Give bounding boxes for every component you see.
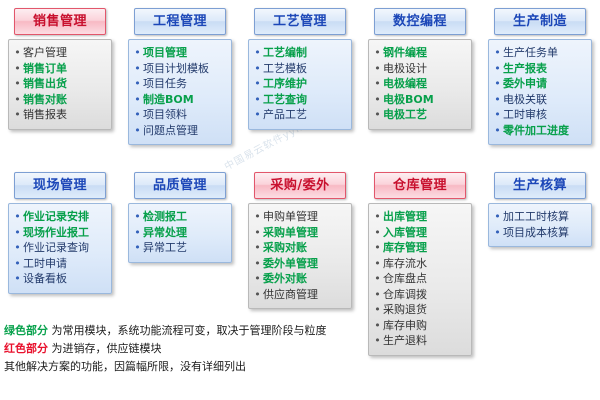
module-item-label: 项目任务	[143, 76, 187, 92]
module-item-label: 供应商管理	[263, 287, 318, 303]
bullet-icon: •	[252, 45, 263, 61]
legend-red-description: 为进销存，供应链模块	[52, 342, 162, 355]
module-item[interactable]: •仓库盘点	[372, 271, 468, 287]
column-col-5-bottom: 生产核算•加工工时核算•项目成本核算	[480, 172, 600, 356]
module-item-label: 客户管理	[23, 45, 67, 61]
module-item[interactable]: •电极编程	[372, 76, 468, 92]
bullet-icon: •	[372, 271, 383, 287]
column-col-5-top: 生产制造•生产任务单•生产报表•委外申请•电极关联•工时审核•零件加工进度	[480, 8, 600, 145]
module-item-list: •客户管理•销售订单•销售出货•销售对账•销售报表	[12, 45, 108, 123]
module-header-生产核算[interactable]: 生产核算	[494, 172, 586, 199]
module-item-list: •生产任务单•生产报表•委外申请•电极关联•工时审核•零件加工进度	[492, 45, 588, 138]
module-item-label: 工时审核	[503, 107, 547, 123]
module-item[interactable]: •销售报表	[12, 107, 108, 123]
module-card-品质管理: 品质管理•检测报工•异常处理•异常工艺	[128, 172, 232, 263]
module-item-list: •钢件编程•电极设计•电极编程•电极BOM•电极工艺	[372, 45, 468, 123]
module-item[interactable]: •库存流水	[372, 256, 468, 272]
module-header-生产制造[interactable]: 生产制造	[494, 8, 586, 35]
module-item-label: 采购单管理	[263, 225, 318, 241]
module-item[interactable]: •销售出货	[12, 76, 108, 92]
module-item[interactable]: •异常处理	[132, 225, 228, 241]
module-item[interactable]: •采购对账	[252, 240, 348, 256]
bullet-icon: •	[12, 61, 23, 77]
bullet-icon: •	[12, 240, 23, 256]
module-header-工艺管理[interactable]: 工艺管理	[254, 8, 346, 35]
module-item-label: 仓库盘点	[383, 271, 427, 287]
module-header-现场管理[interactable]: 现场管理	[14, 172, 106, 199]
bullet-icon: •	[492, 123, 503, 139]
legend: 绿色部分 为常用模块，系统功能流程可变，取决于管理阶段与粒度 红色部分 为进销存…	[4, 322, 404, 376]
bullet-icon: •	[132, 225, 143, 241]
module-item-label: 异常工艺	[143, 240, 187, 256]
module-item[interactable]: •电极BOM	[372, 92, 468, 108]
module-item[interactable]: •工时审核	[492, 107, 588, 123]
module-body-现场管理: •作业记录安排•现场作业报工•作业记录查询•工时申请•设备看板	[8, 203, 112, 294]
bullet-icon: •	[372, 256, 383, 272]
module-item-label: 电极设计	[383, 61, 427, 77]
bullet-icon: •	[372, 225, 383, 241]
module-item[interactable]: •作业记录安排	[12, 209, 108, 225]
module-item-list: •加工工时核算•项目成本核算	[492, 209, 588, 240]
bullet-icon: •	[252, 256, 263, 272]
module-item[interactable]: •委外对账	[252, 271, 348, 287]
module-item-label: 电极工艺	[383, 107, 427, 123]
module-item-list: •工艺编制•工艺模板•工序维护•工艺查询•产品工艺	[252, 45, 348, 123]
module-item[interactable]: •作业记录查询	[12, 240, 108, 256]
legend-green-description: 为常用模块，系统功能流程可变，取决于管理阶段与粒度	[52, 324, 327, 337]
bullet-icon: •	[492, 76, 503, 92]
module-body-采购/委外: •申购单管理•采购单管理•采购对账•委外单管理•委外对账•供应商管理	[248, 203, 352, 309]
bullet-icon: •	[252, 107, 263, 123]
module-item-label: 零件加工进度	[503, 123, 569, 139]
module-item[interactable]: •采购单管理	[252, 225, 348, 241]
module-body-工程管理: •项目管理•项目计划模板•项目任务•制造BOM•项目领料•问题点管理	[128, 39, 232, 145]
bullet-icon: •	[372, 76, 383, 92]
module-card-生产制造: 生产制造•生产任务单•生产报表•委外申请•电极关联•工时审核•零件加工进度	[488, 8, 592, 145]
bullet-icon: •	[252, 225, 263, 241]
bullet-icon: •	[372, 209, 383, 225]
module-card-生产核算: 生产核算•加工工时核算•项目成本核算	[488, 172, 592, 247]
module-item[interactable]: •现场作业报工	[12, 225, 108, 241]
module-item-label: 制造BOM	[143, 92, 194, 108]
module-row-top: 销售管理•客户管理•销售订单•销售出货•销售对账•销售报表工程管理•项目管理•项…	[0, 8, 600, 145]
module-item-label: 检测报工	[143, 209, 187, 225]
bullet-icon: •	[372, 107, 383, 123]
module-item[interactable]: •制造BOM	[132, 92, 228, 108]
module-item-label: 异常处理	[143, 225, 187, 241]
bullet-icon: •	[132, 107, 143, 123]
module-item-list: •作业记录安排•现场作业报工•作业记录查询•工时申请•设备看板	[12, 209, 108, 287]
module-item-label: 出库管理	[383, 209, 427, 225]
module-item-label: 工艺编制	[263, 45, 307, 61]
module-item[interactable]: •工时申请	[12, 256, 108, 272]
module-body-数控编程: •钢件编程•电极设计•电极编程•电极BOM•电极工艺	[368, 39, 472, 130]
module-item-label: 生产任务单	[503, 45, 558, 61]
bullet-icon: •	[12, 76, 23, 92]
bullet-icon: •	[12, 45, 23, 61]
bullet-icon: •	[372, 92, 383, 108]
bullet-icon: •	[372, 45, 383, 61]
legend-green-swatch-label: 绿色部分	[4, 324, 48, 337]
bullet-icon: •	[12, 225, 23, 241]
module-item-label: 销售报表	[23, 107, 67, 123]
module-item[interactable]: •项目任务	[132, 76, 228, 92]
module-header-品质管理[interactable]: 品质管理	[134, 172, 226, 199]
bullet-icon: •	[252, 76, 263, 92]
module-body-生产制造: •生产任务单•生产报表•委外申请•电极关联•工时审核•零件加工进度	[488, 39, 592, 145]
bullet-icon: •	[132, 61, 143, 77]
module-item-list: •检测报工•异常处理•异常工艺	[132, 209, 228, 256]
module-item[interactable]: •项目计划模板	[132, 61, 228, 77]
module-item[interactable]: •问题点管理	[132, 123, 228, 139]
module-item[interactable]: •项目领料	[132, 107, 228, 123]
bullet-icon: •	[132, 92, 143, 108]
module-header-数控编程[interactable]: 数控编程	[374, 8, 466, 35]
bullet-icon: •	[252, 287, 263, 303]
bullet-icon: •	[252, 271, 263, 287]
module-body-销售管理: •客户管理•销售订单•销售出货•销售对账•销售报表	[8, 39, 112, 130]
module-item-label: 问题点管理	[143, 123, 198, 139]
module-item-label: 电极关联	[503, 92, 547, 108]
module-body-品质管理: •检测报工•异常处理•异常工艺	[128, 203, 232, 263]
module-item-label: 项目领料	[143, 107, 187, 123]
module-item[interactable]: •工艺模板	[252, 61, 348, 77]
module-item-label: 生产报表	[503, 61, 547, 77]
module-header-采购/委外[interactable]: 采购/委外	[254, 172, 346, 199]
module-body-生产核算: •加工工时核算•项目成本核算	[488, 203, 592, 247]
module-item-label: 电极编程	[383, 76, 427, 92]
module-item-label: 工序维护	[263, 76, 307, 92]
module-item-label: 销售对账	[23, 92, 67, 108]
module-item[interactable]: •销售订单	[12, 61, 108, 77]
module-item-label: 现场作业报工	[23, 225, 89, 241]
module-item[interactable]: •入库管理	[372, 225, 468, 241]
module-body-工艺管理: •工艺编制•工艺模板•工序维护•工艺查询•产品工艺	[248, 39, 352, 130]
bullet-icon: •	[132, 45, 143, 61]
module-item[interactable]: •项目成本核算	[492, 225, 588, 241]
module-item[interactable]: •电极工艺	[372, 107, 468, 123]
module-item[interactable]: •零件加工进度	[492, 123, 588, 139]
legend-red-swatch-label: 红色部分	[4, 342, 48, 355]
bullet-icon: •	[492, 107, 503, 123]
module-item[interactable]: •检测报工	[132, 209, 228, 225]
module-item[interactable]: •委外单管理	[252, 256, 348, 272]
module-item[interactable]: •仓库调拨	[372, 287, 468, 303]
bullet-icon: •	[12, 256, 23, 272]
module-item[interactable]: •生产任务单	[492, 45, 588, 61]
bullet-icon: •	[492, 225, 503, 241]
bullet-icon: •	[492, 209, 503, 225]
module-item[interactable]: •钢件编程	[372, 45, 468, 61]
module-item-label: 钢件编程	[383, 45, 427, 61]
module-map-diagram: 中国易云软件yymy.com 销售管理•客户管理•销售订单•销售出货•销售对账•…	[0, 0, 600, 400]
module-item[interactable]: •项目管理	[132, 45, 228, 61]
module-item[interactable]: •加工工时核算	[492, 209, 588, 225]
module-header-销售管理[interactable]: 销售管理	[14, 8, 106, 35]
module-card-工艺管理: 工艺管理•工艺编制•工艺模板•工序维护•工艺查询•产品工艺	[248, 8, 352, 130]
module-card-采购/委外: 采购/委外•申购单管理•采购单管理•采购对账•委外单管理•委外对账•供应商管理	[248, 172, 352, 309]
module-item[interactable]: •工序维护	[252, 76, 348, 92]
module-item-label: 委外对账	[263, 271, 307, 287]
module-item-list: •项目管理•项目计划模板•项目任务•制造BOM•项目领料•问题点管理	[132, 45, 228, 138]
module-item[interactable]: •电极关联	[492, 92, 588, 108]
bullet-icon: •	[132, 240, 143, 256]
module-card-工程管理: 工程管理•项目管理•项目计划模板•项目任务•制造BOM•项目领料•问题点管理	[128, 8, 232, 145]
module-item-label: 电极BOM	[383, 92, 434, 108]
module-card-销售管理: 销售管理•客户管理•销售订单•销售出货•销售对账•销售报表	[8, 8, 112, 130]
bullet-icon: •	[132, 123, 143, 139]
bullet-icon: •	[252, 92, 263, 108]
module-item-label: 仓库调拨	[383, 287, 427, 303]
column-col-1-top: 销售管理•客户管理•销售订单•销售出货•销售对账•销售报表	[0, 8, 120, 145]
bullet-icon: •	[372, 302, 383, 318]
legend-line-note: 其他解决方案的功能，因篇幅所限，没有详细列出	[4, 358, 404, 376]
module-item[interactable]: •设备看板	[12, 271, 108, 287]
module-item-label: 申购单管理	[263, 209, 318, 225]
module-item-label: 项目管理	[143, 45, 187, 61]
module-item-label: 入库管理	[383, 225, 427, 241]
module-item[interactable]: •工艺查询	[252, 92, 348, 108]
module-item[interactable]: •客户管理	[12, 45, 108, 61]
bullet-icon: •	[252, 209, 263, 225]
module-item-label: 工艺查询	[263, 92, 307, 108]
bullet-icon: •	[372, 240, 383, 256]
bullet-icon: •	[492, 92, 503, 108]
module-item-label: 库存流水	[383, 256, 427, 272]
module-item-label: 采购退货	[383, 302, 427, 318]
bullet-icon: •	[372, 287, 383, 303]
module-card-现场管理: 现场管理•作业记录安排•现场作业报工•作业记录查询•工时申请•设备看板	[8, 172, 112, 294]
module-item-label: 工艺模板	[263, 61, 307, 77]
module-item-label: 加工工时核算	[503, 209, 569, 225]
module-item[interactable]: •销售对账	[12, 92, 108, 108]
module-item-label: 销售订单	[23, 61, 67, 77]
module-item-label: 采购对账	[263, 240, 307, 256]
bullet-icon: •	[132, 76, 143, 92]
module-card-数控编程: 数控编程•钢件编程•电极设计•电极编程•电极BOM•电极工艺	[368, 8, 472, 130]
module-header-仓库管理[interactable]: 仓库管理	[374, 172, 466, 199]
legend-line-green: 绿色部分 为常用模块，系统功能流程可变，取决于管理阶段与粒度	[4, 322, 404, 340]
column-col-3-top: 工艺管理•工艺编制•工艺模板•工序维护•工艺查询•产品工艺	[240, 8, 360, 145]
module-item[interactable]: •库存管理	[372, 240, 468, 256]
module-item-label: 项目成本核算	[503, 225, 569, 241]
module-item[interactable]: •电极设计	[372, 61, 468, 77]
column-col-2-top: 工程管理•项目管理•项目计划模板•项目任务•制造BOM•项目领料•问题点管理	[120, 8, 240, 145]
module-item[interactable]: •委外申请	[492, 76, 588, 92]
module-header-工程管理[interactable]: 工程管理	[134, 8, 226, 35]
legend-line-red: 红色部分 为进销存，供应链模块	[4, 340, 404, 358]
bullet-icon: •	[492, 45, 503, 61]
bullet-icon: •	[12, 107, 23, 123]
module-item-label: 产品工艺	[263, 107, 307, 123]
bullet-icon: •	[252, 61, 263, 77]
module-item-label: 库存管理	[383, 240, 427, 256]
module-item[interactable]: •产品工艺	[252, 107, 348, 123]
module-item-label: 工时申请	[23, 256, 67, 272]
module-item[interactable]: •异常工艺	[132, 240, 228, 256]
module-item[interactable]: •采购退货	[372, 302, 468, 318]
bullet-icon: •	[492, 61, 503, 77]
bullet-icon: •	[132, 209, 143, 225]
module-item-label: 项目计划模板	[143, 61, 209, 77]
module-item[interactable]: •出库管理	[372, 209, 468, 225]
module-item-label: 设备看板	[23, 271, 67, 287]
module-item-label: 作业记录查询	[23, 240, 89, 256]
module-item-list: •申购单管理•采购单管理•采购对账•委外单管理•委外对账•供应商管理	[252, 209, 348, 302]
module-item[interactable]: •供应商管理	[252, 287, 348, 303]
module-item-label: 委外申请	[503, 76, 547, 92]
bullet-icon: •	[12, 209, 23, 225]
module-item[interactable]: •生产报表	[492, 61, 588, 77]
bullet-icon: •	[12, 92, 23, 108]
bullet-icon: •	[252, 240, 263, 256]
module-item-label: 委外单管理	[263, 256, 318, 272]
column-col-4-top: 数控编程•钢件编程•电极设计•电极编程•电极BOM•电极工艺	[360, 8, 480, 145]
module-item-label: 作业记录安排	[23, 209, 89, 225]
bullet-icon: •	[12, 271, 23, 287]
module-item-label: 销售出货	[23, 76, 67, 92]
module-item[interactable]: •申购单管理	[252, 209, 348, 225]
module-item[interactable]: •工艺编制	[252, 45, 348, 61]
bullet-icon: •	[372, 61, 383, 77]
